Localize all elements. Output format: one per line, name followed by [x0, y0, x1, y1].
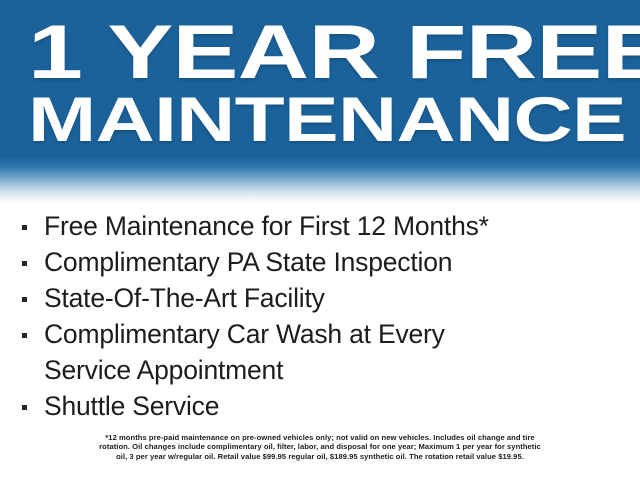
banner-header: 1 YEAR FREE MAINTENANCE [0, 0, 640, 204]
list-item: Free Maintenance for First 12 Months* [0, 208, 640, 244]
disclaimer-text: *12 months pre-paid maintenance on pre-o… [0, 433, 640, 461]
list-item-label: Complimentary Car Wash at Every Service … [44, 316, 640, 388]
square-bullet-icon [22, 225, 27, 230]
disclaimer-line-3: oil, 3 per year w/regular oil. Retail va… [34, 452, 606, 461]
list-item-label: State-Of-The-Art Facility [44, 280, 640, 316]
benefits-list: Free Maintenance for First 12 Months* Co… [0, 208, 640, 424]
disclaimer-line-1: *12 months pre-paid maintenance on pre-o… [34, 433, 606, 442]
headline-line-1: 1 YEAR FREE [28, 14, 640, 92]
promo-card: 1 YEAR FREE MAINTENANCE Free Maintenance… [0, 0, 640, 480]
list-item: Complimentary PA State Inspection [0, 244, 640, 280]
page-title: 1 YEAR FREE MAINTENANCE [0, 0, 640, 152]
list-item-label: Shuttle Service [44, 388, 640, 424]
square-bullet-icon [22, 333, 27, 338]
headline-line-2: MAINTENANCE [28, 88, 640, 152]
list-item-label: Complimentary PA State Inspection [44, 244, 640, 280]
square-bullet-icon [22, 297, 27, 302]
square-bullet-icon [22, 261, 27, 266]
list-item: State-Of-The-Art Facility [0, 280, 640, 316]
list-item: Shuttle Service [0, 388, 640, 424]
list-item-label: Free Maintenance for First 12 Months* [44, 208, 640, 244]
square-bullet-icon [22, 405, 27, 410]
list-item: Complimentary Car Wash at Every Service … [0, 316, 640, 388]
disclaimer-line-2: rotation. Oil changes include compliment… [34, 442, 606, 451]
